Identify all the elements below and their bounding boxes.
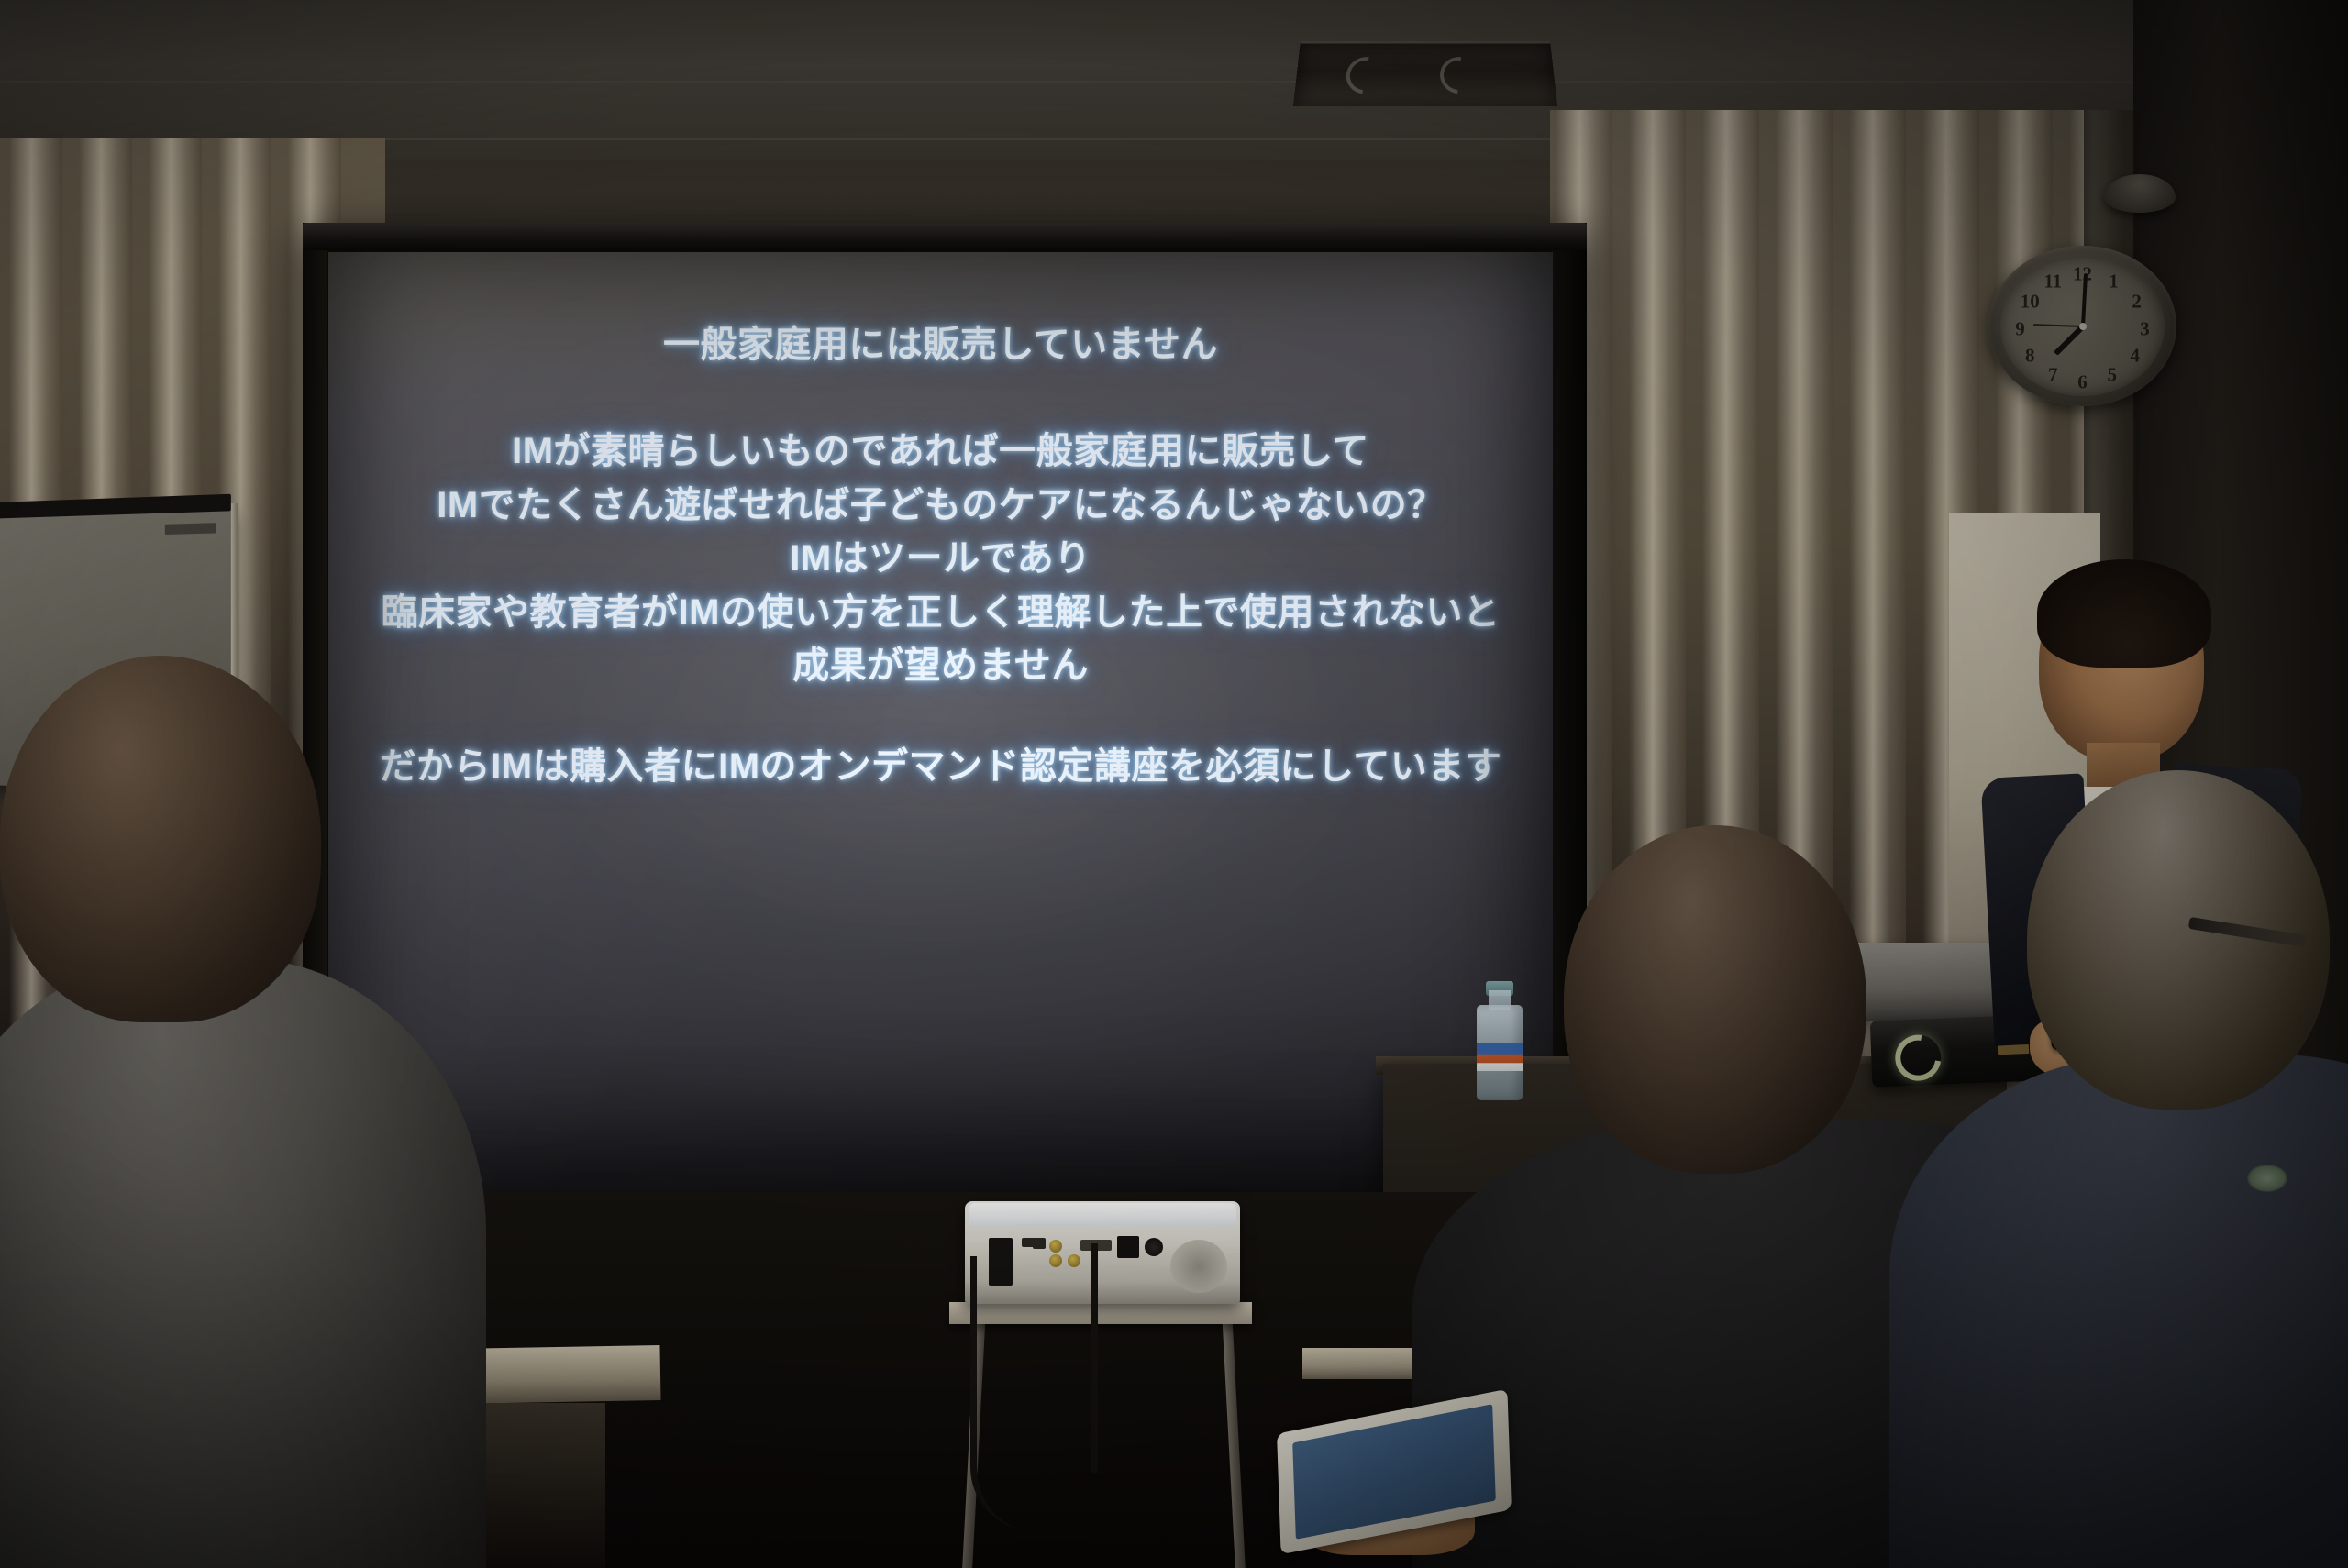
slide-content: 一般家庭用には販売していません IMが素晴らしいものであれば一般家庭用に販売して… [328, 252, 1553, 1192]
projector-port-usb [1033, 1238, 1046, 1249]
projector-power-cable [970, 1256, 1078, 1531]
conference-room-photo: 12 1 2 3 4 5 6 7 8 9 10 11 一般家庭用には販 [0, 0, 2348, 1568]
slide-line-5: 成果が望めません [792, 639, 1089, 692]
projector-rca-jack [1049, 1240, 1062, 1253]
attendee-front-left-body [0, 958, 486, 1568]
ceiling-air-vent [1293, 41, 1557, 106]
slide-line-2: IMでたくさん遊ばせれば子どものケアになるんじゃないの？ [437, 479, 1444, 532]
slide-line-1: IMが素晴らしいものであれば一般家庭用に販売して [512, 425, 1369, 478]
slide-line-3: IMはツールであり [790, 532, 1091, 585]
clock-numeral: 5 [2107, 364, 2117, 387]
slide-line-4: 臨床家や教育者がIMの使い方を正しく理解した上で使用されないと [382, 586, 1501, 639]
clock-second-hand [2032, 324, 2082, 327]
clock-numeral: 2 [2132, 291, 2142, 314]
projection-screen-casing [303, 223, 1587, 250]
smoke-detector [2104, 174, 2176, 213]
vent-fin-icon [1433, 50, 1487, 101]
clock-numeral: 4 [2131, 344, 2141, 367]
clock-numeral: 11 [2043, 270, 2062, 293]
clock-center-pin [2079, 323, 2087, 330]
clock-numeral: 9 [2015, 317, 2025, 340]
clock-numeral: 7 [2048, 364, 2058, 387]
slide-closing-line: だからIMは購入者にIMのオンデマンド認定講座を必須にしています [380, 740, 1502, 793]
clock-numeral: 6 [2077, 370, 2088, 393]
projector-top-highlight [969, 1203, 1236, 1227]
projection-screen-surface: 一般家庭用には販売していません IMが素晴らしいものであれば一般家庭用に販売して… [328, 252, 1553, 1192]
vent-fin-icon [1339, 50, 1393, 101]
attendee-right [1972, 770, 2348, 1568]
presenter-hair [2037, 559, 2211, 668]
attendee-front-left-head [0, 656, 321, 1022]
clock-numeral: 8 [2025, 344, 2035, 367]
ceiling-seam-secondary [0, 81, 2348, 83]
clock-numeral: 3 [2140, 317, 2150, 340]
attendee-front-left [0, 656, 486, 1568]
whiteboard-label [165, 523, 216, 535]
wall-clock: 12 1 2 3 4 5 6 7 8 9 10 11 [1988, 246, 2176, 406]
clock-numeral: 1 [2109, 270, 2119, 293]
clock-face: 12 1 2 3 4 5 6 7 8 9 10 11 [2000, 256, 2165, 396]
slide-title-line: 一般家庭用には販売していません [663, 318, 1218, 371]
projector-speaker-grill [1170, 1240, 1227, 1293]
attendee-right-body [1889, 1055, 2348, 1568]
attendee-center-head [1564, 825, 1866, 1174]
polo-shirt-logo [2247, 1165, 2287, 1192]
projector-video-cable [1091, 1243, 1171, 1473]
clock-numeral: 10 [2021, 291, 2040, 314]
